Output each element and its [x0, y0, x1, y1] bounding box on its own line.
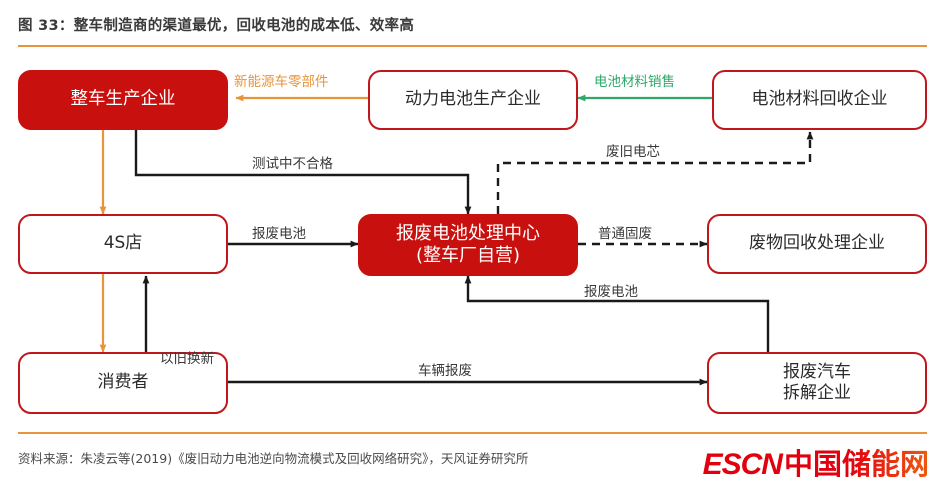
node-dismantler-label: 报废汽车 拆解企业 [783, 362, 851, 405]
node-dealer-4s[interactable]: 4S店 [18, 214, 228, 274]
edge-label-scrap-battery-dealer: 报废电池 [252, 222, 306, 242]
edge-label-new-energy-parts: 新能源车零部件 [234, 70, 329, 90]
node-battery-maker[interactable]: 动力电池生产企业 [368, 70, 578, 130]
source-note: 资料来源：朱凌云等(2019)《废旧动力电池逆向物流模式及回收网络研究》，天风证… [18, 448, 528, 467]
node-dismantler[interactable]: 报废汽车 拆解企业 [707, 352, 927, 414]
edge-label-vehicle-scrapping: 车辆报废 [418, 359, 472, 379]
edge-label-used-cells: 废旧电芯 [606, 140, 660, 160]
diagram-canvas: 整车生产企业 动力电池生产企业 电池材料回收企业 4S店 报废电池处理中心 (整… [0, 52, 945, 432]
node-dealer-4s-label: 4S店 [104, 233, 143, 254]
node-battery-maker-label: 动力电池生产企业 [405, 89, 541, 110]
node-material-recycler[interactable]: 电池材料回收企业 [712, 70, 927, 130]
edge-label-battery-material-sales: 电池材料销售 [594, 70, 675, 90]
figure-page: 图 33：整车制造商的渠道最优，回收电池的成本低、效率高 [0, 0, 945, 483]
node-oem-label: 整车生产企业 [71, 89, 176, 111]
node-scrap-battery-center[interactable]: 报废电池处理中心 (整车厂自营) [358, 214, 578, 276]
node-waste-recycler[interactable]: 废物回收处理企业 [707, 214, 927, 274]
edge-label-failed-test: 测试中不合格 [252, 152, 333, 172]
escn-logo: ESCN 中国储能网 [703, 441, 929, 483]
node-scrap-battery-center-label: 报废电池处理中心 (整车厂自营) [396, 223, 540, 268]
escn-chinese-name: 中国储能网 [784, 441, 929, 483]
escn-wordmark: ESCN [703, 448, 782, 482]
node-waste-recycler-label: 废物回收处理企业 [749, 233, 885, 254]
node-material-recycler-label: 电池材料回收企业 [752, 89, 888, 110]
edge-label-scrap-battery-dismantler: 报废电池 [584, 280, 638, 300]
node-consumer-label: 消费者 [98, 372, 149, 393]
edge-label-trade-in: 以旧换新 [160, 347, 214, 367]
title-divider [18, 45, 927, 47]
footer-divider [18, 432, 927, 434]
edge-failed-test [136, 130, 468, 214]
edge-label-general-solid-waste: 普通固废 [598, 222, 652, 242]
page-title: 图 33：整车制造商的渠道最优，回收电池的成本低、效率高 [18, 14, 414, 35]
title-bar: 图 33：整车制造商的渠道最优，回收电池的成本低、效率高 [0, 0, 945, 52]
node-oem[interactable]: 整车生产企业 [18, 70, 228, 130]
